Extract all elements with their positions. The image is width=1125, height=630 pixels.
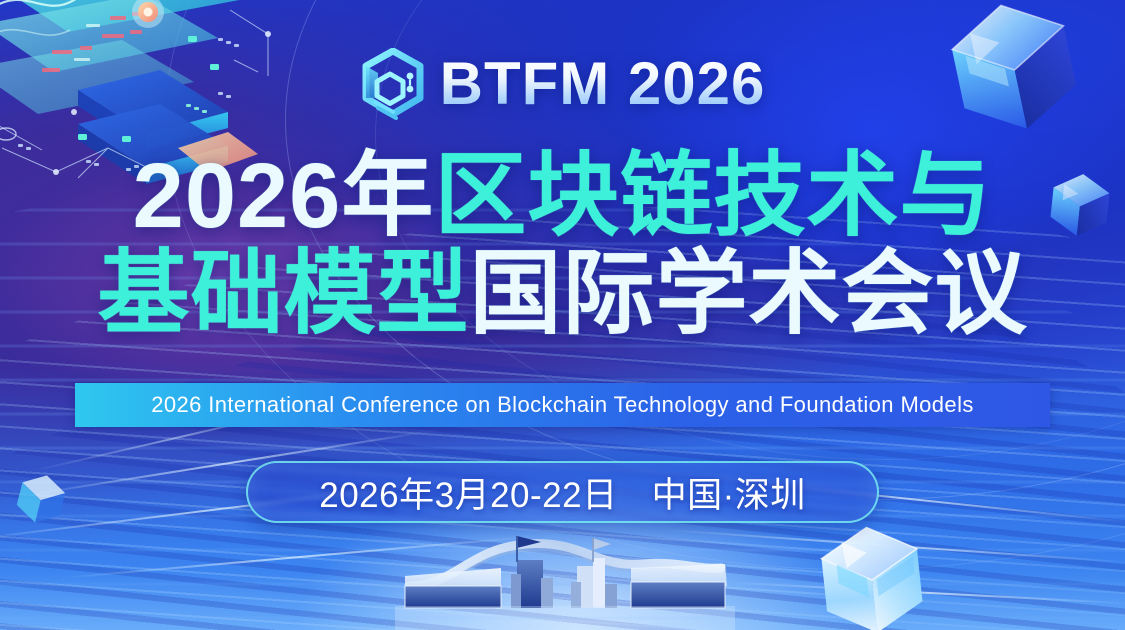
subtitle-text: 2026 International Conference on Blockch… [151,392,974,418]
title-line-2-event: 国际学术会议 [470,243,1028,345]
title-line-1: 2026年区块链技术与 [0,148,1125,246]
logo-row: BTFM 2026 [0,48,1125,120]
banner-content: BTFM 2026 2026年区块链技术与 基础模型国际学术会议 2026 In… [0,0,1125,630]
title-line-1-year: 2026年 [133,145,435,247]
conference-banner: BTFM 2026 2026年区块链技术与 基础模型国际学术会议 2026 In… [0,0,1125,630]
logo-text: BTFM 2026 [440,54,766,114]
blockchain-hexagon-cube-icon [360,48,426,120]
subtitle-bar: 2026 International Conference on Blockch… [75,383,1050,427]
event-location: 中国·深圳 [652,467,806,518]
event-date: 2026年3月20-22日 [319,467,617,518]
title-line-1-topic: 区块链技术与 [434,145,992,247]
title-line-2-topic: 基础模型 [97,243,469,345]
title-line-2: 基础模型国际学术会议 [0,246,1125,344]
main-title: 2026年区块链技术与 基础模型国际学术会议 [0,148,1125,343]
event-info-pill: 2026年3月20-22日 中国·深圳 [246,461,879,523]
